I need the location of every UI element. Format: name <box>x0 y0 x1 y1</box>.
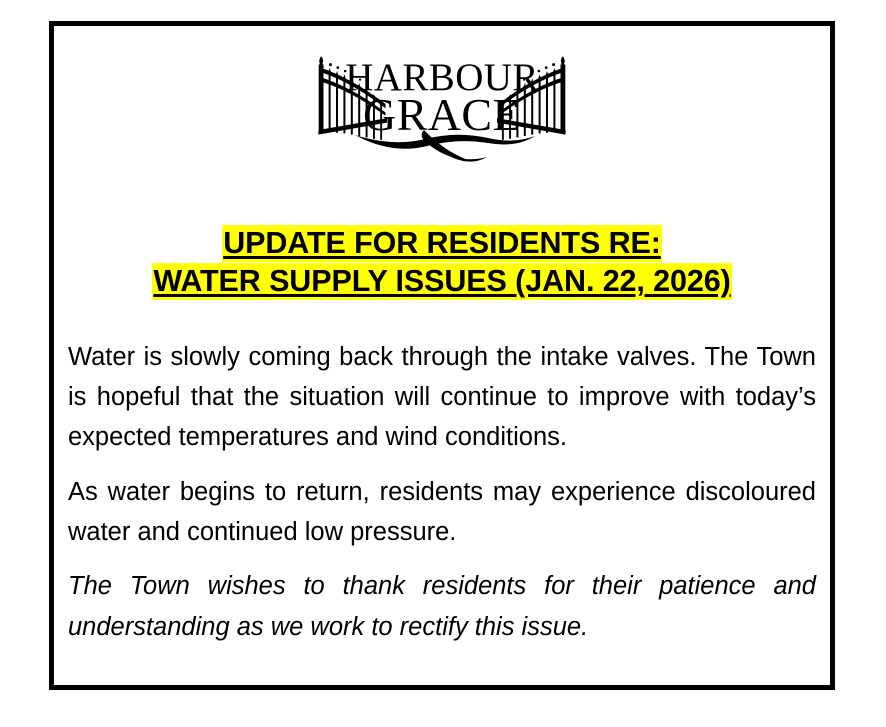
harbour-grace-logo-icon: HARBOUR GRACE <box>292 42 592 170</box>
notice-content: HARBOUR GRACE UPDATE FOR RESIDENTS RE: W… <box>54 26 830 685</box>
title-line-1: UPDATE FOR RESIDENTS RE: <box>63 224 821 262</box>
page-title: UPDATE FOR RESIDENTS RE: WATER SUPPLY IS… <box>63 224 821 301</box>
title-line-2-text: WATER SUPPLY ISSUES (JAN. 22, 2026) <box>152 263 731 300</box>
title-line-2: WATER SUPPLY ISSUES (JAN. 22, 2026) <box>63 262 821 300</box>
body-paragraph-2: As water begins to return, residents may… <box>68 472 816 553</box>
title-line-1-text: UPDATE FOR RESIDENTS RE: <box>222 225 662 262</box>
body-paragraph-1: Water is slowly coming back through the … <box>68 337 816 458</box>
logo-wordmark-grace: GRACE <box>363 89 521 140</box>
body-paragraph-3: The Town wishes to thank residents for t… <box>68 566 816 647</box>
logo-block: HARBOUR GRACE <box>63 26 821 175</box>
notice-body: Water is slowly coming back through the … <box>63 337 821 647</box>
notice-frame: HARBOUR GRACE UPDATE FOR RESIDENTS RE: W… <box>49 21 835 690</box>
